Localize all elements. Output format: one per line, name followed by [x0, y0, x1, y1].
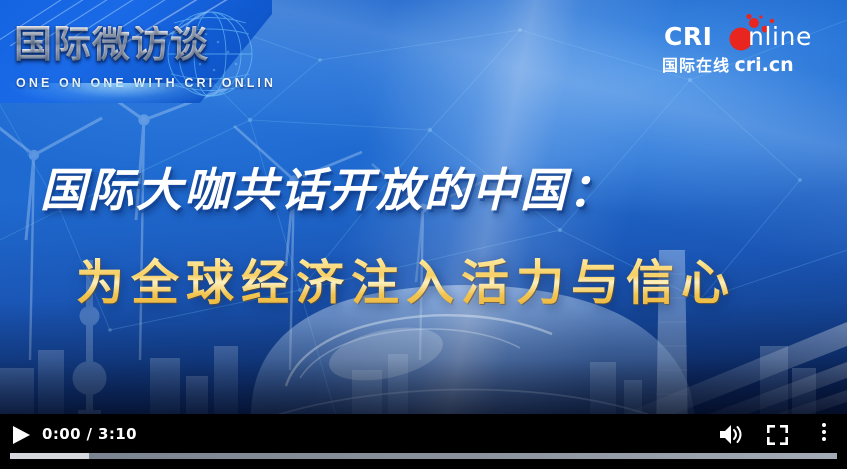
- logo-subtext-row: 国际在线 cri.cn: [662, 52, 794, 76]
- play-icon: [8, 423, 34, 447]
- player-control-bar[interactable]: 0:00 / 3:10: [0, 414, 847, 469]
- logo-chinese-name: 国际在线: [662, 58, 730, 75]
- cri-online-logo: CRI nline 国际在线 cri.cn: [662, 22, 830, 76]
- kebab-dot: [822, 430, 826, 434]
- volume-icon: [718, 423, 744, 446]
- logo-domain: cri.cn: [734, 54, 793, 76]
- volume-button[interactable]: [718, 423, 744, 446]
- fullscreen-button[interactable]: [766, 424, 789, 446]
- program-subtitle: ONE ON ONE WITH CRI ONLINE: [16, 76, 272, 90]
- logo-wordmark-row: CRI nline: [662, 22, 830, 52]
- video-player[interactable]: 国际微访谈 ONE ON ONE WITH CRI ONLINE CRI: [0, 0, 847, 469]
- program-banner: 国际微访谈 ONE ON ONE WITH CRI ONLINE: [0, 0, 272, 103]
- video-poster[interactable]: 国际微访谈 ONE ON ONE WITH CRI ONLINE CRI: [0, 0, 847, 440]
- headline-line-1: 国际大咖共话开放的中国：: [40, 154, 616, 220]
- time-display: 0:00 / 3:10: [42, 425, 137, 443]
- progress-buffered: [10, 453, 89, 459]
- kebab-dot: [822, 437, 826, 441]
- control-buttons-row: 0:00 / 3:10: [0, 414, 847, 454]
- logo-nline-text: nline: [748, 22, 812, 51]
- progress-bar[interactable]: [10, 453, 837, 459]
- logo-cri-text: CRI: [664, 22, 712, 51]
- fullscreen-icon: [766, 424, 789, 446]
- kebab-dot: [822, 423, 826, 427]
- program-title: 国际微访谈: [14, 26, 209, 64]
- headline-line-2: 为全球经济注入活力与信心: [76, 243, 736, 313]
- play-button[interactable]: [8, 423, 34, 447]
- more-options-button[interactable]: [816, 423, 832, 447]
- progress-track: [10, 453, 837, 459]
